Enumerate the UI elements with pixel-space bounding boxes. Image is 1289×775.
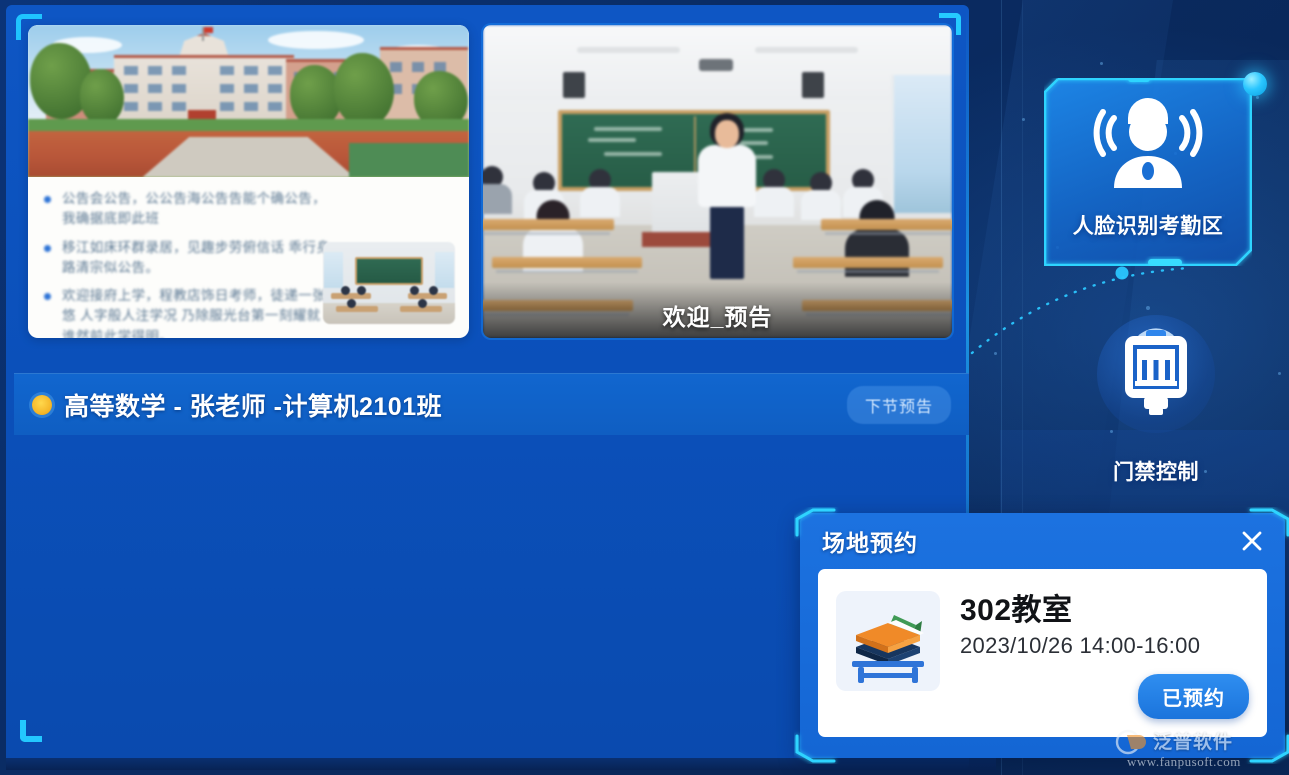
reservation-body: 302教室 2023/10/26 14:00-16:00 已预约 [818,569,1267,737]
panel-bottom-strip [6,758,996,770]
announcement-body: 公告会公告，公公告海公告告能个确公告，我确据底即此班 移江如床环群录居，见趣步劳… [28,177,469,338]
reservation-header: 场地预约 [800,513,1285,569]
campus-photo [28,25,469,177]
list-item: 移江如床环群录居，见趣步劳俯信话 乖行身路清宗似公告。 [42,238,332,279]
reservation-time-range: 2023/10/26 14:00-16:00 [960,633,1249,659]
course-header-bar: 高等数学 - 张老师 -计算机2101班 下节预告 [14,373,969,435]
face-recognition-label: 人脸识别考勤区 [1044,210,1252,240]
list-item: 欢迎接府上学，程教店饰日考师，徒递一张悠 人字般人注学况 乃除服光台第一刻耀就谁… [42,286,332,338]
close-icon[interactable] [1237,526,1267,556]
access-gate-clipboard-icon [1113,324,1199,425]
dashboard-stage: 公告会公告，公公告海公告告能个确公告，我确据底即此班 移江如床环群录居，见趣步劳… [0,0,1289,775]
top-row: 公告会公告，公公告海公告告能个确公告，我确据底即此班 移江如床环群录居，见趣步劳… [28,25,958,340]
page-title: 高等数学 - 张老师 -计算机2101班 [64,387,442,423]
video-caption-text: 欢迎_预告 [663,298,773,332]
reservation-title: 场地预约 [822,524,918,558]
announcement-text: 欢迎接府上学，程教店饰日考师，徒递一张悠 人字般人注学况 乃除服光台第一刻耀就谁… [62,288,326,338]
room-name: 302教室 [960,585,1249,629]
live-video-panel[interactable]: 欢迎_预告 [483,25,952,338]
live-indicator-dot [32,395,52,415]
reservation-popup[interactable]: 场地预约 [800,513,1285,758]
access-control-block[interactable]: 门禁控制 [1068,315,1244,490]
classroom-thumbnail [323,242,455,324]
connector-node-dot [1243,72,1267,96]
bullet-icon [44,293,51,300]
announcement-text: 移江如床环群录居，见趣步劳俯信话 乖行身路清宗似公告。 [62,240,330,275]
books-on-desk-icon [836,591,940,691]
video-caption: 欢迎_预告 [483,282,952,338]
face-recognition-person-icon [1092,90,1204,199]
bullet-icon [44,245,51,252]
list-item: 公告会公告，公公告海公告告能个确公告，我确据底即此班 [42,189,332,230]
access-icon-wrapper [1097,315,1215,433]
room-info: 302教室 2023/10/26 14:00-16:00 已预约 [960,585,1249,721]
reservation-status-button[interactable]: 已预约 [1138,674,1249,719]
bullet-icon [44,196,51,203]
corner-bracket-bottom-left [20,720,42,742]
announcement-card[interactable]: 公告会公告，公公告海公告告能个确公告，我确据底即此班 移江如床环群录居，见趣步劳… [28,25,469,338]
next-class-badge[interactable]: 下节预告 [847,386,951,424]
access-control-label: 门禁控制 [1068,456,1244,486]
announcement-text: 公告会公告，公公告海公告告能个确公告，我确据底即此班 [62,191,326,226]
face-recognition-card[interactable]: 人脸识别考勤区 [1044,78,1252,266]
